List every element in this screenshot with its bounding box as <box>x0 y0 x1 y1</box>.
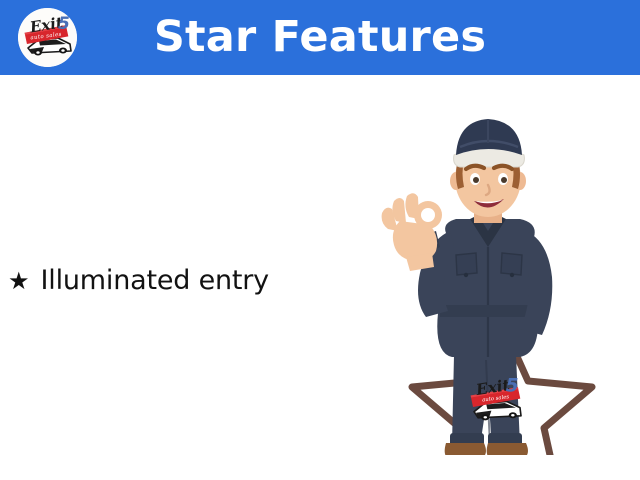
list-item: ★ Illuminated entry <box>8 265 388 296</box>
feature-label: Illuminated entry <box>41 265 269 296</box>
exit-5-logo: auto sales Exit 5 <box>470 375 521 420</box>
header-bar: auto sales Exit 5 Star Features <box>0 0 640 75</box>
star-bullet-icon: ★ <box>8 269 30 293</box>
svg-text:5: 5 <box>506 375 519 396</box>
slide-body: ★ Illuminated entry <box>0 75 640 480</box>
feature-list: ★ Illuminated entry <box>8 265 388 310</box>
page-title: Star Features <box>0 0 640 75</box>
mechanic-with-star-illustration: auto sales Exit 5 <box>370 105 635 455</box>
